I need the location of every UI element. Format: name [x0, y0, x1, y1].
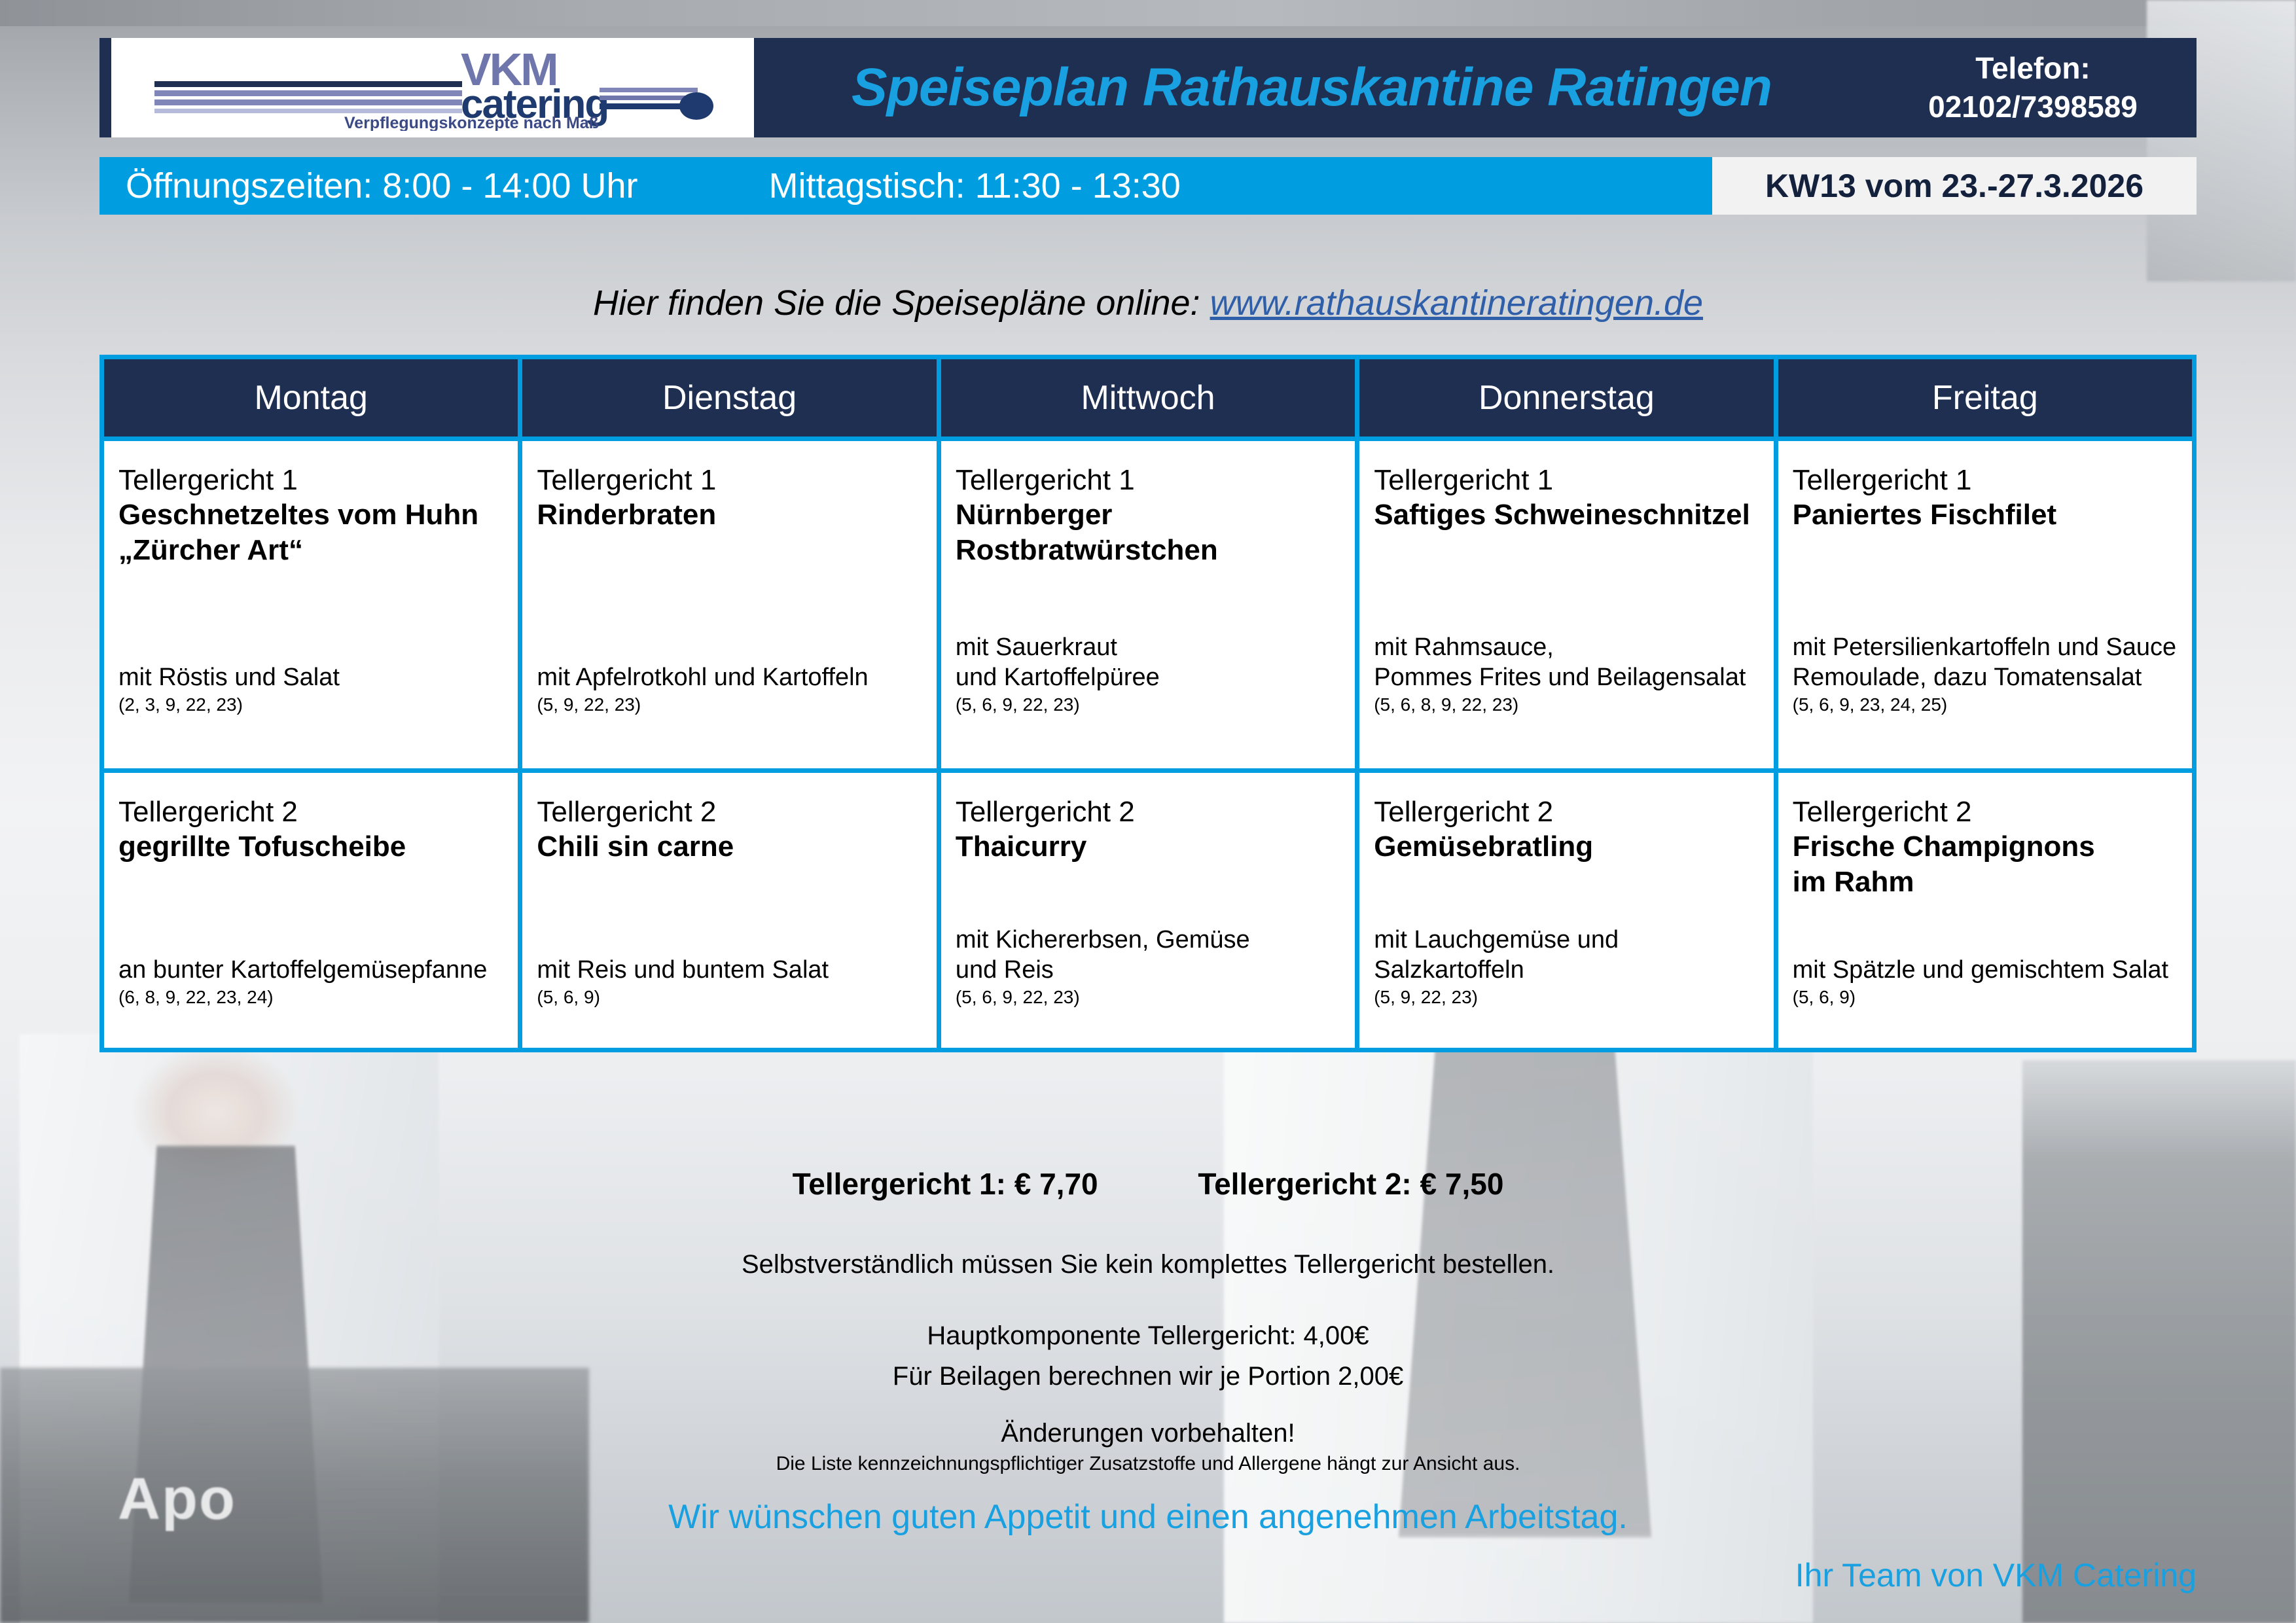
dish-allergens: (5, 6, 9) — [537, 986, 922, 1008]
dish-allergens: (5, 6, 9, 22, 23) — [956, 694, 1340, 716]
price-tellergericht-1: Tellergericht 1: € 7,70 — [793, 1167, 1098, 1201]
dish-label: Tellergericht 2 — [956, 795, 1340, 829]
svg-text:Verpflegungskonzepte nach Maß: Verpflegungskonzepte nach Maß — [344, 114, 599, 131]
dish-sides: mit Reis und buntem Salat — [537, 955, 922, 986]
dish-name: Rinderbraten — [537, 497, 922, 533]
note-allergen-list: Die Liste kennzeichnungspflichtiger Zusa… — [0, 1453, 2296, 1475]
day-header-montag: Montag — [104, 359, 518, 437]
dish-sides: mit Röstis und Salat — [118, 663, 503, 693]
dish-allergens: (5, 6, 8, 9, 22, 23) — [1374, 694, 1759, 716]
dish-name: gegrillte Tofuscheibe — [118, 829, 503, 865]
price-row: Tellergericht 1: € 7,70 Tellergericht 2:… — [0, 1166, 2296, 1202]
online-info-line: Hier finden Sie die Speisepläne online: … — [0, 283, 2296, 323]
dish-label: Tellergericht 1 — [956, 463, 1340, 497]
price-tellergericht-2: Tellergericht 2: € 7,50 — [1198, 1167, 1503, 1201]
dish-name: Gemüsebratling — [1374, 829, 1759, 865]
opening-hours: Öffnungszeiten: 8:00 - 14:00 Uhr — [126, 166, 638, 206]
phone-label: Telefon: — [1975, 49, 2090, 88]
info-bar-times: Öffnungszeiten: 8:00 - 14:00 Uhr Mittags… — [99, 157, 1712, 215]
dish-label: Tellergericht 2 — [118, 795, 503, 829]
menu-cell: Tellergericht 2 gegrillte Tofuscheibe an… — [104, 773, 518, 1048]
dish-allergens: (5, 6, 9) — [1793, 986, 2178, 1008]
dish-label: Tellergericht 1 — [118, 463, 503, 497]
menu-cell: Tellergericht 2 Frische Champignons im R… — [1778, 773, 2192, 1048]
day-header-dienstag: Dienstag — [522, 359, 936, 437]
day-header-freitag: Freitag — [1778, 359, 2192, 437]
page-title: Speiseplan Rathauskantine Ratingen — [852, 57, 1772, 118]
vkm-catering-logo: VKM catering Verpflegungskonzepte nach M… — [148, 45, 717, 131]
dish-name: Geschnetzeltes vom Huhn „Zürcher Art“ — [118, 497, 503, 567]
menu-table-header-row: Montag Dienstag Mittwoch Donnerstag Frei… — [104, 359, 2192, 437]
menu-cell: Tellergericht 1 Geschnetzeltes vom Huhn … — [104, 441, 518, 768]
dish-name: Paniertes Fischfilet — [1793, 497, 2178, 533]
dish-label: Tellergericht 2 — [1793, 795, 2178, 829]
dish-allergens: (5, 6, 9, 22, 23) — [956, 986, 1340, 1008]
note-changes-reserved: Änderungen vorbehalten! — [0, 1419, 2296, 1448]
logo-box: VKM catering Verpflegungskonzepte nach M… — [99, 38, 754, 137]
dish-label: Tellergericht 1 — [537, 463, 922, 497]
dish-allergens: (2, 3, 9, 22, 23) — [118, 694, 503, 716]
phone-number: 02102/7398589 — [1928, 88, 2138, 126]
note-main-component: Hauptkomponente Tellergericht: 4,00€ — [0, 1315, 2296, 1356]
dish-name: Thaicurry — [956, 829, 1340, 865]
dish-sides: mit Spätzle und gemischtem Salat — [1793, 955, 2178, 986]
menu-cell: Tellergericht 1 Rinderbraten mit Apfelro… — [522, 441, 936, 768]
dish-label: Tellergericht 2 — [537, 795, 922, 829]
menu-cell: Tellergericht 2 Gemüsebratling mit Lauch… — [1359, 773, 1773, 1048]
dish-allergens: (5, 6, 9, 23, 24, 25) — [1793, 694, 2178, 716]
day-header-donnerstag: Donnerstag — [1359, 359, 1773, 437]
dish-sides: mit Sauerkraut und Kartoffelpüree — [956, 633, 1340, 692]
calendar-week-badge: KW13 vom 23.-27.3.2026 — [1712, 157, 2197, 215]
menu-cell: Tellergericht 1 Saftiges Schweineschnitz… — [1359, 441, 1773, 768]
dish-allergens: (5, 9, 22, 23) — [537, 694, 922, 716]
dish-name: Chili sin carne — [537, 829, 922, 865]
appetit-message: Wir wünschen guten Appetit und einen ang… — [0, 1497, 2296, 1537]
vkm-logo-icon: VKM catering Verpflegungskonzepte nach M… — [148, 45, 717, 131]
dish-allergens: (5, 9, 22, 23) — [1374, 986, 1759, 1008]
dish-sides: mit Lauchgemüse und Salzkartoffeln — [1374, 925, 1759, 985]
menu-cell: Tellergericht 1 Nürnberger Rostbratwürst… — [941, 441, 1355, 768]
day-header-mittwoch: Mittwoch — [941, 359, 1355, 437]
menu-cell: Tellergericht 1 Paniertes Fischfilet mit… — [1778, 441, 2192, 768]
title-box: Speiseplan Rathauskantine Ratingen — [754, 38, 1869, 137]
menu-website-link[interactable]: www.rathauskantineratingen.de — [1210, 283, 1703, 323]
phone-box: Telefon: 02102/7398589 — [1869, 38, 2197, 137]
dish-name: Saftiges Schweineschnitzel — [1374, 497, 1759, 533]
dish-sides: mit Petersilienkartoffeln und Sauce Remo… — [1793, 633, 2178, 692]
note-component-prices: Hauptkomponente Tellergericht: 4,00€ Für… — [0, 1315, 2296, 1397]
team-signature: Ihr Team von VKM Catering — [1795, 1556, 2197, 1594]
dish-sides: mit Rahmsauce, Pommes Frites und Beilage… — [1374, 633, 1759, 692]
note-side-portions: Für Beilagen berechnen wir je Portion 2,… — [0, 1356, 2296, 1397]
online-info-prefix: Hier finden Sie die Speisepläne online: — [593, 283, 1210, 323]
header: VKM catering Verpflegungskonzepte nach M… — [99, 38, 2197, 137]
info-bar: Öffnungszeiten: 8:00 - 14:00 Uhr Mittags… — [99, 157, 2197, 215]
dish-name: Nürnberger Rostbratwürstchen — [956, 497, 1340, 567]
note-optional-order: Selbstverständlich müssen Sie kein kompl… — [0, 1250, 2296, 1279]
dish-label: Tellergericht 2 — [1374, 795, 1759, 829]
dish-sides: mit Apfelrotkohl und Kartoffeln — [537, 663, 922, 693]
menu-cell: Tellergericht 2 Chili sin carne mit Reis… — [522, 773, 936, 1048]
menu-cell: Tellergericht 2 Thaicurry mit Kichererbs… — [941, 773, 1355, 1048]
menu-table: Montag Dienstag Mittwoch Donnerstag Frei… — [99, 355, 2197, 1052]
menu-row-tellergericht-1: Tellergericht 1 Geschnetzeltes vom Huhn … — [104, 441, 2192, 768]
dish-label: Tellergericht 1 — [1374, 463, 1759, 497]
dish-label: Tellergericht 1 — [1793, 463, 2178, 497]
dish-sides: mit Kichererbsen, Gemüse und Reis — [956, 925, 1340, 985]
menu-page: VKM catering Verpflegungskonzepte nach M… — [0, 0, 2296, 1623]
dish-name: Frische Champignons im Rahm — [1793, 829, 2178, 899]
dish-allergens: (6, 8, 9, 22, 23, 24) — [118, 986, 503, 1008]
lunch-time: Mittagstisch: 11:30 - 13:30 — [769, 166, 1181, 206]
menu-row-tellergericht-2: Tellergericht 2 gegrillte Tofuscheibe an… — [104, 773, 2192, 1048]
dish-sides: an bunter Kartoffelgemüsepfanne — [118, 955, 503, 986]
